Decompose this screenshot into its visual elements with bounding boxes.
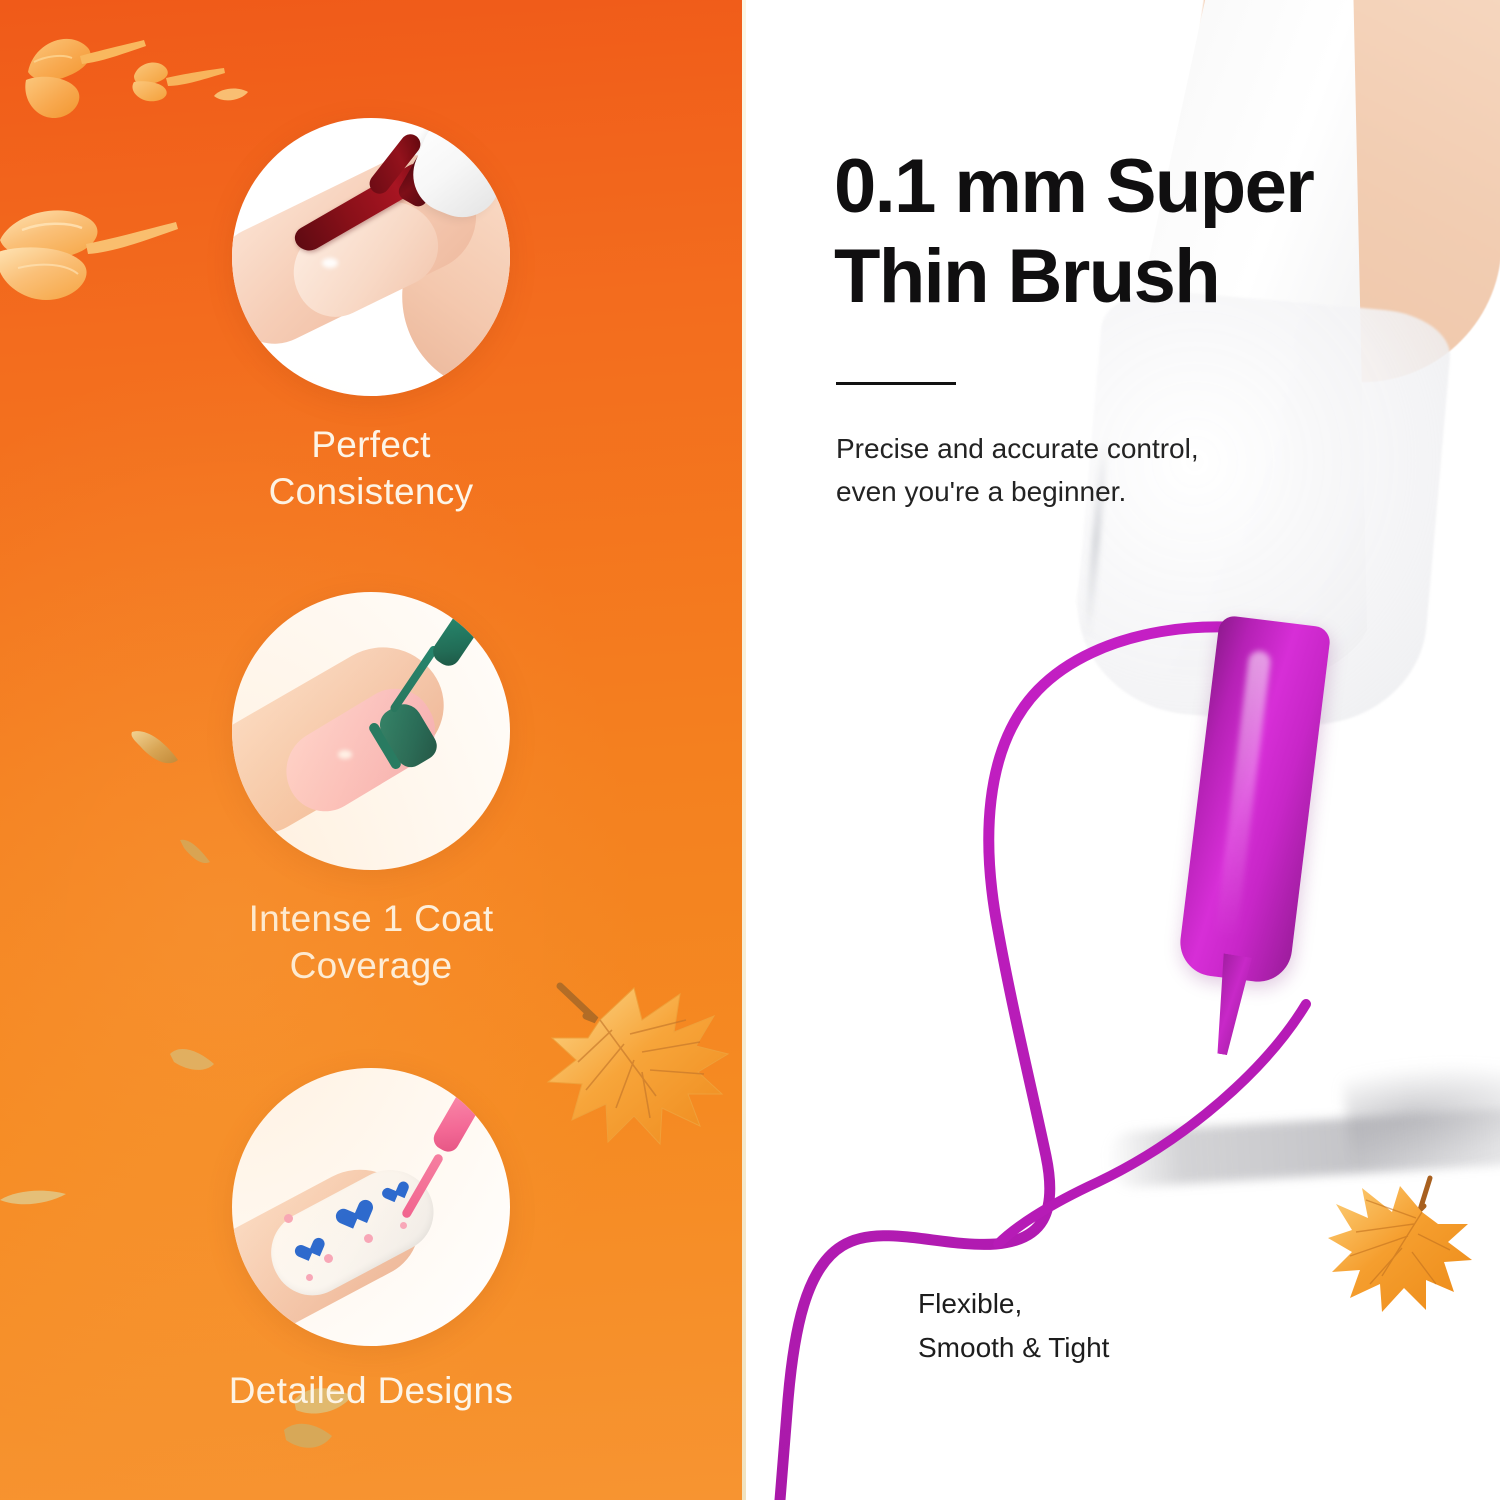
nail-highlight xyxy=(322,258,338,268)
feature-label-intense-coverage: Intense 1 Coat Coverage xyxy=(0,896,742,990)
feature-image-perfect-consistency xyxy=(232,118,510,396)
title-underline-rule xyxy=(836,382,956,385)
nail-highlight xyxy=(338,750,352,759)
feature-label-line: Detailed Designs xyxy=(0,1368,742,1415)
headline-line: Thin Brush xyxy=(834,232,1454,322)
maple-leaf-icon xyxy=(1326,1172,1476,1317)
feature-intense-1-coat-coverage: Intense 1 Coat Coverage xyxy=(0,592,742,990)
feature-label-detailed-designs: Detailed Designs xyxy=(0,1368,742,1415)
pink-dot xyxy=(306,1274,313,1281)
brush-handle-pink xyxy=(430,1080,489,1155)
feature-label-perfect-consistency: Perfect Consistency xyxy=(0,422,742,516)
left-orange-panel: Perfect Consistency Intense 1 Coat Cover… xyxy=(0,0,742,1500)
feature-image-intense-coverage xyxy=(232,592,510,870)
caption-line: Flexible, xyxy=(918,1282,1109,1326)
ginkgo-petal-icon xyxy=(212,84,252,106)
caption-line: Smooth & Tight xyxy=(918,1326,1109,1370)
subtitle-line: even you're a beginner. xyxy=(836,471,1356,514)
subtitle-text: Precise and accurate control, even you'r… xyxy=(836,428,1356,513)
page-title: 0.1 mm Super Thin Brush xyxy=(834,142,1454,321)
headline-line: 0.1 mm Super xyxy=(834,142,1454,232)
feature-detailed-designs: Detailed Designs xyxy=(0,1068,742,1415)
brush-handle-teal xyxy=(428,602,487,671)
right-white-panel: 0.1 mm Super Thin Brush Precise and accu… xyxy=(746,0,1500,1500)
ginkgo-leaf-small-icon xyxy=(128,52,234,108)
pink-dot xyxy=(324,1254,333,1263)
gold-confetti-icon xyxy=(282,1418,334,1458)
pink-dot xyxy=(284,1214,293,1223)
feature-label-line: Coverage xyxy=(0,943,742,990)
pink-dot xyxy=(400,1222,407,1229)
feature-perfect-consistency: Perfect Consistency xyxy=(0,118,742,516)
product-feature-banner: Perfect Consistency Intense 1 Coat Cover… xyxy=(0,0,1500,1500)
subtitle-line: Precise and accurate control, xyxy=(836,428,1356,471)
feature-image-detailed-designs xyxy=(232,1068,510,1346)
feature-caption: Flexible, Smooth & Tight xyxy=(918,1282,1109,1370)
feature-label-line: Intense 1 Coat xyxy=(0,896,742,943)
feature-label-line: Perfect xyxy=(0,422,742,469)
feature-label-line: Consistency xyxy=(0,469,742,516)
pink-dot xyxy=(364,1234,373,1243)
